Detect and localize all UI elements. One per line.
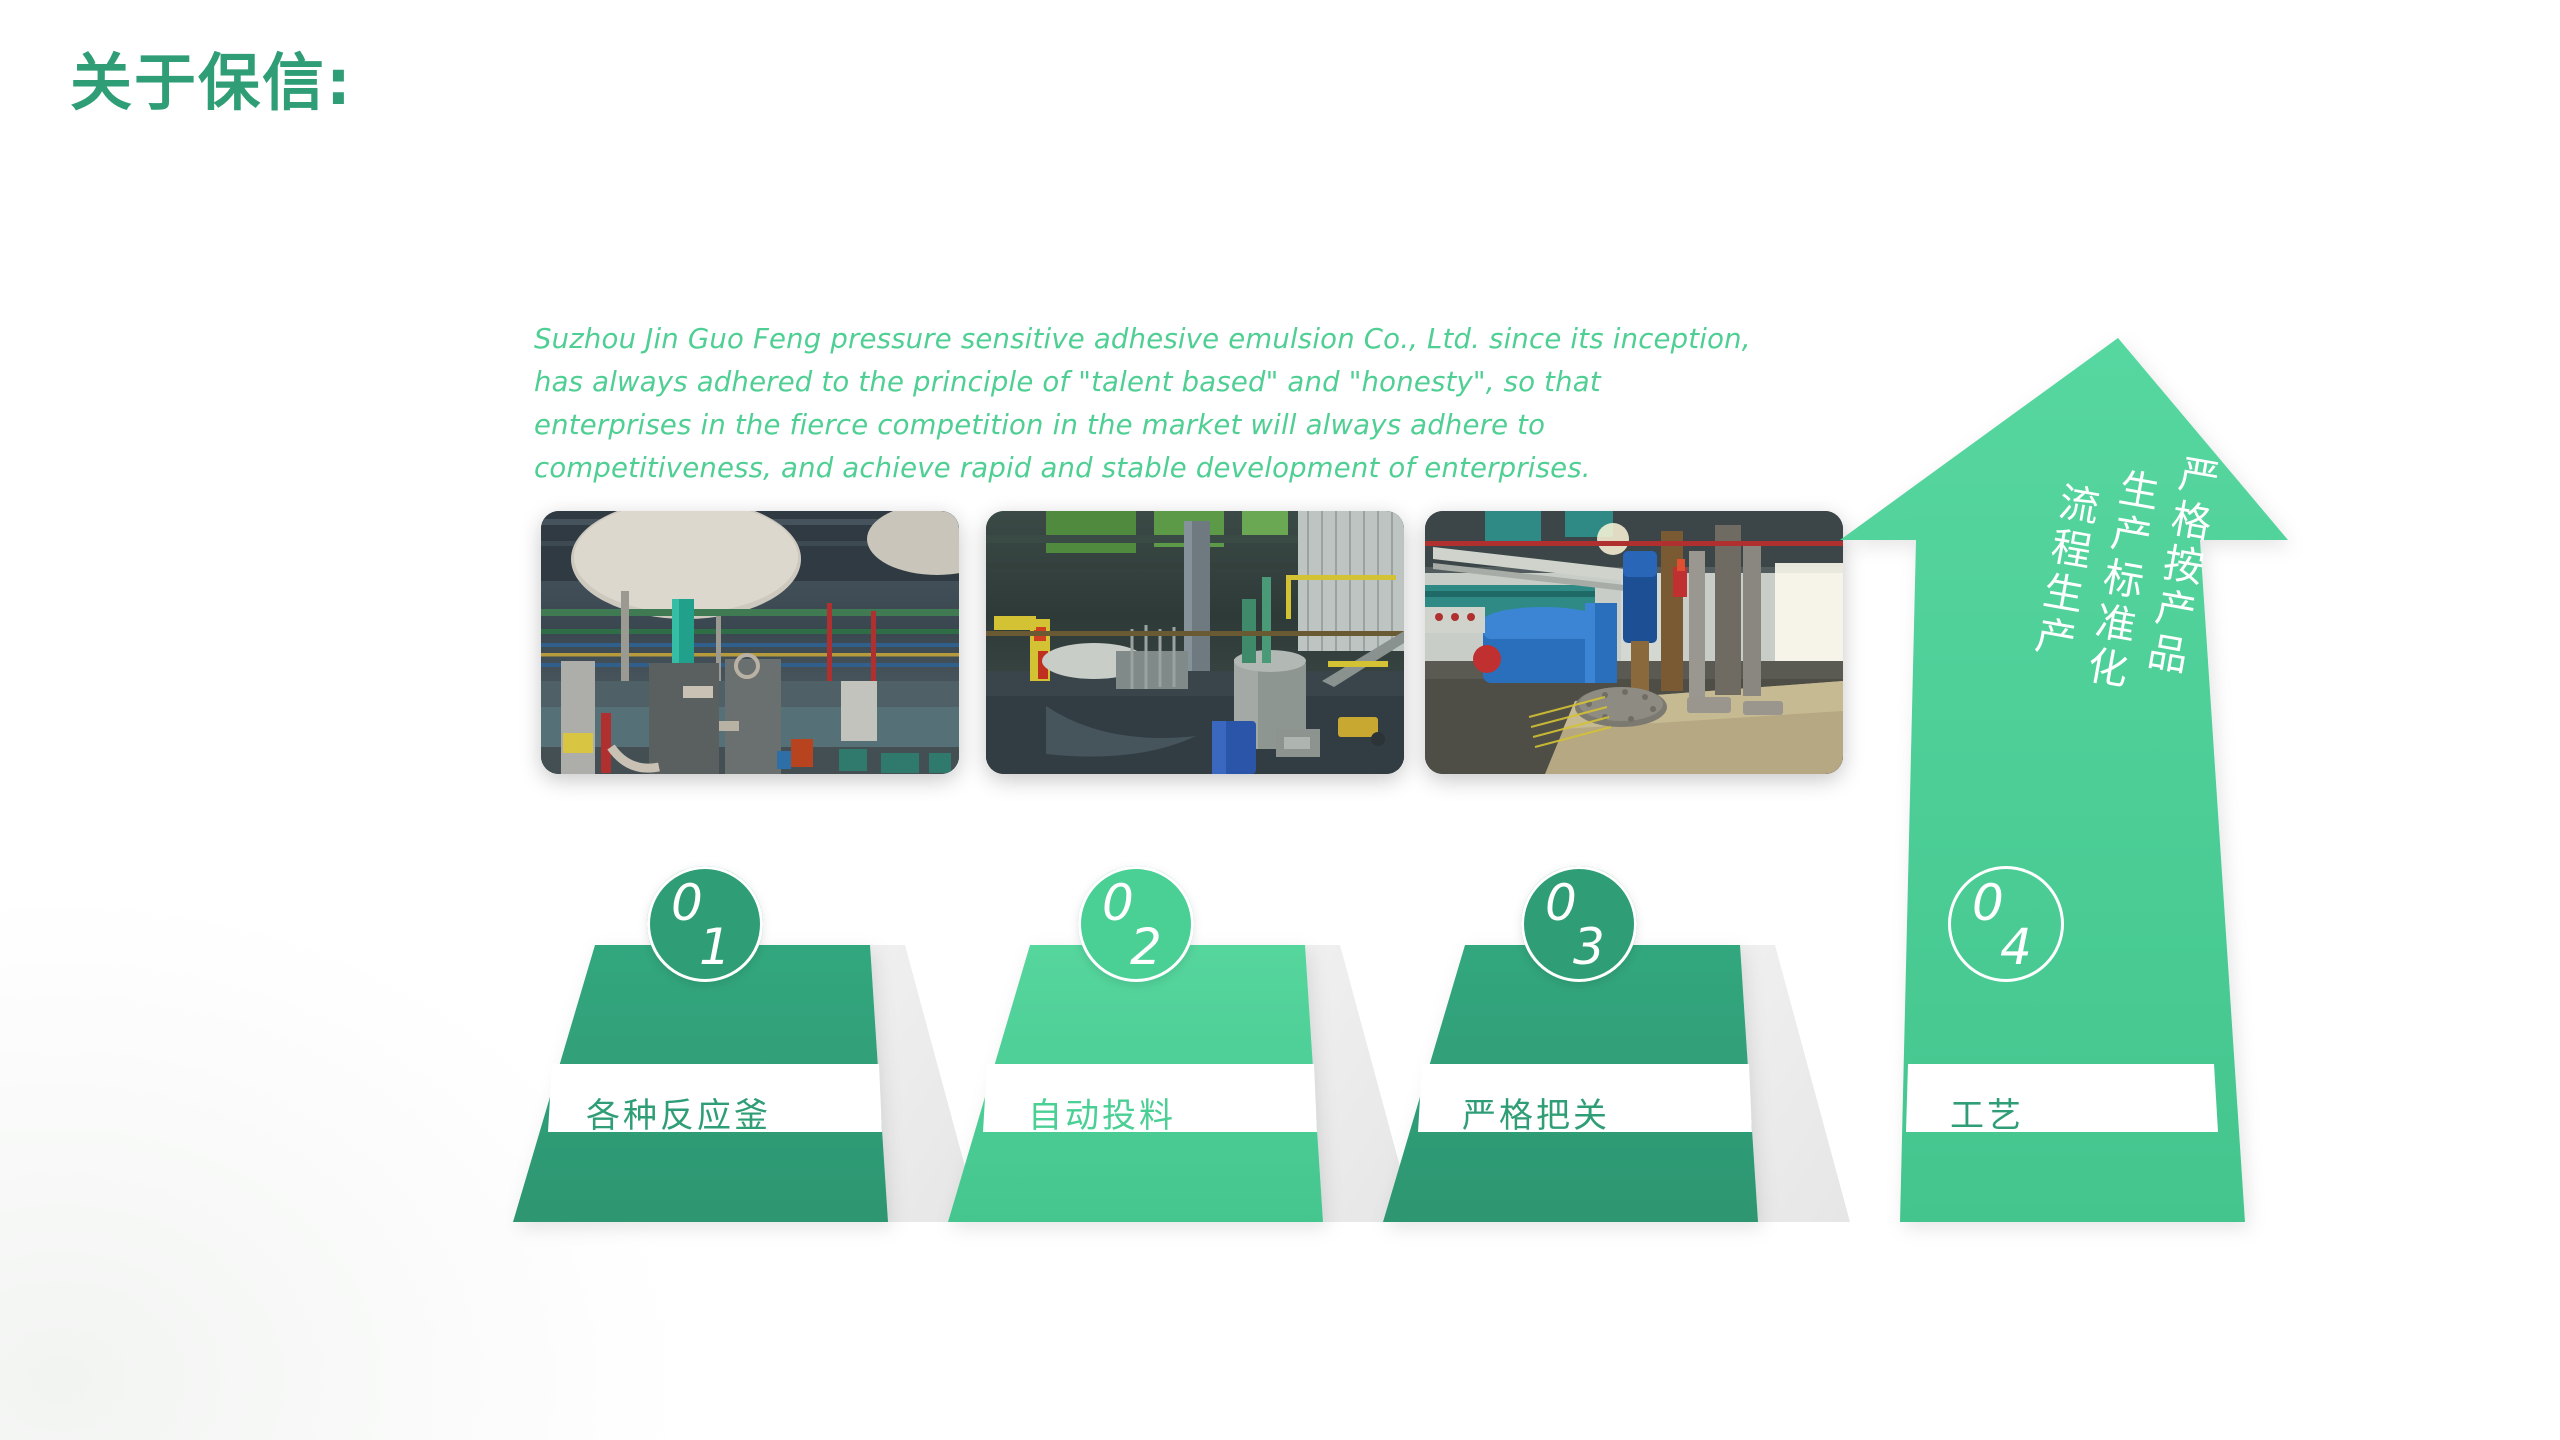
slide-canvas: 关于保信: Suzhou Jin Guo Feng pressure sensi… — [0, 0, 2560, 1440]
step-number-digit-3: 3 — [1573, 922, 1605, 972]
step-number-digit-4: 4 — [2000, 922, 2032, 972]
arrow-text-group: 严格按产品 生产标准化 流程生产 — [1960, 455, 2220, 785]
step-number-digit-2: 2 — [1130, 922, 1162, 972]
step-label-4: 工艺 — [1950, 1088, 2024, 1137]
step-label-3: 严格把关 — [1462, 1088, 1610, 1137]
step-number-badge-4[interactable]: 0 4 — [1948, 866, 2064, 982]
step-label-1: 各种反应釜 — [586, 1088, 771, 1137]
step-number-digit-1: 1 — [699, 922, 731, 972]
step-number-badge-3[interactable]: 0 3 — [1521, 866, 1637, 982]
step-number-badge-1[interactable]: 0 1 — [647, 866, 763, 982]
step-number-badge-2[interactable]: 0 2 — [1078, 866, 1194, 982]
step-label-2: 自动投料 — [1028, 1088, 1176, 1137]
